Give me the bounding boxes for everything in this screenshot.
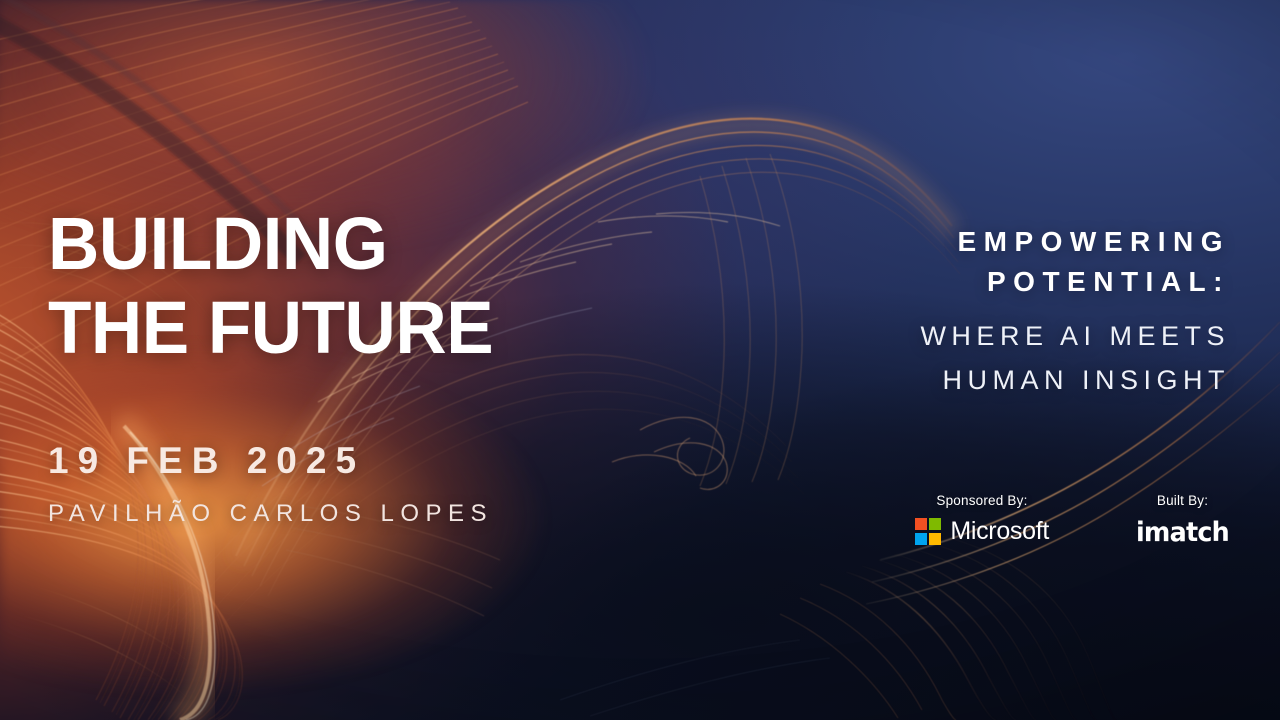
event-banner: BUILDING THE FUTURE 19 FEB 2025 PAVILHÃO… xyxy=(0,0,1280,720)
microsoft-square-red xyxy=(915,518,927,530)
tagline-light-line-2: HUMAN INSIGHT xyxy=(920,358,1230,402)
sponsored-by-label: Sponsored By: xyxy=(936,493,1027,508)
event-date: 19 FEB 2025 xyxy=(48,440,512,482)
microsoft-square-green xyxy=(929,518,941,530)
microsoft-square-yellow xyxy=(929,533,941,545)
tagline-light-line-1: WHERE AI MEETS xyxy=(920,314,1230,358)
microsoft-logo: Microsoft xyxy=(915,517,1049,546)
event-headline-block: BUILDING THE FUTURE 19 FEB 2025 PAVILHÃO… xyxy=(48,208,512,528)
imatch-wordmark: imatch xyxy=(1136,517,1229,548)
event-venue: PAVILHÃO CARLOS LOPES xyxy=(48,500,512,528)
sponsor-column: Sponsored By: Microsoft xyxy=(915,493,1049,546)
built-by-label: Built By: xyxy=(1157,493,1208,508)
event-tagline-block: EMPOWERING POTENTIAL: WHERE AI MEETS HUM… xyxy=(920,222,1230,402)
partner-logos-row: Sponsored By: Microsoft Built By: imatch xyxy=(915,493,1232,548)
banner-content: BUILDING THE FUTURE 19 FEB 2025 PAVILHÃO… xyxy=(0,0,1280,720)
event-title-line-2: THE FUTURE xyxy=(48,292,493,364)
microsoft-wordmark: Microsoft xyxy=(950,517,1049,546)
microsoft-square-blue xyxy=(915,533,927,545)
event-title-line-1: BUILDING xyxy=(48,208,493,280)
tagline-strong-line-1: EMPOWERING xyxy=(920,222,1230,262)
microsoft-squares-icon xyxy=(915,518,942,545)
tagline-strong-line-2: POTENTIAL: xyxy=(920,262,1230,302)
builder-column: Built By: imatch xyxy=(1133,493,1232,548)
